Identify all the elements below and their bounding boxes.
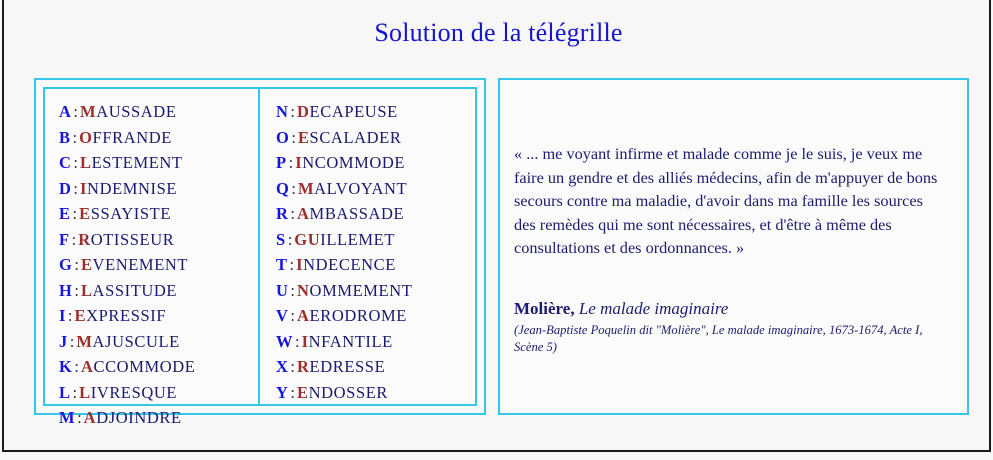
solution-separator: : bbox=[71, 128, 80, 147]
solution-word-tail: CCOMMODE bbox=[93, 357, 195, 376]
solution-key: G bbox=[59, 255, 72, 274]
solution-separator: : bbox=[286, 230, 295, 249]
solution-row: L:LIVRESQUE bbox=[59, 380, 258, 406]
solution-word-head: O bbox=[79, 128, 92, 147]
solution-word-head: R bbox=[78, 230, 91, 249]
solution-key: S bbox=[276, 230, 286, 249]
solution-row: K:ACCOMMODE bbox=[59, 354, 258, 380]
solution-row: A:MAUSSADE bbox=[59, 99, 258, 125]
solution-row: T:INDECENCE bbox=[276, 252, 475, 278]
solution-key: V bbox=[276, 306, 288, 325]
solution-separator: : bbox=[288, 281, 297, 300]
solution-word-head: E bbox=[79, 204, 91, 223]
solution-row: J:MAJUSCULE bbox=[59, 329, 258, 355]
solution-word-tail: AJUSCULE bbox=[93, 332, 180, 351]
solution-separator: : bbox=[70, 230, 79, 249]
solution-separator: : bbox=[288, 306, 297, 325]
solution-key: H bbox=[59, 281, 72, 300]
solution-row: R:AMBASSADE bbox=[276, 201, 475, 227]
solution-key: B bbox=[59, 128, 71, 147]
solution-word-tail: ILLEMET bbox=[320, 230, 395, 249]
solution-row: X:REDRESSE bbox=[276, 354, 475, 380]
solution-row: B:OFFRANDE bbox=[59, 125, 258, 151]
solution-key: X bbox=[276, 357, 288, 376]
solutions-column-2: N:DECAPEUSEO:ESCALADERP:INCOMMODEQ:MALVO… bbox=[260, 89, 475, 404]
solution-row: P:INCOMMODE bbox=[276, 150, 475, 176]
solution-key: D bbox=[59, 179, 71, 198]
solution-word-tail: IVRESQUE bbox=[91, 383, 177, 402]
solution-separator: : bbox=[66, 306, 75, 325]
solution-word-head: N bbox=[297, 281, 310, 300]
solution-key: I bbox=[59, 306, 66, 325]
solution-separator: : bbox=[288, 204, 297, 223]
solution-row: Q:MALVOYANT bbox=[276, 176, 475, 202]
solution-separator: : bbox=[288, 383, 297, 402]
solution-word-tail: ESTEMENT bbox=[92, 153, 183, 172]
solution-row: C:LESTEMENT bbox=[59, 150, 258, 176]
solution-word-head: E bbox=[297, 383, 309, 402]
solution-word-tail: ERODROME bbox=[310, 306, 407, 325]
page-title: Solution de la télégrille bbox=[4, 18, 993, 48]
solution-word-head: L bbox=[81, 281, 93, 300]
solution-row: G:EVENEMENT bbox=[59, 252, 258, 278]
solution-key: A bbox=[59, 102, 71, 121]
solutions-inner-frame: A:MAUSSADEB:OFFRANDEC:LESTEMENTD:INDEMNI… bbox=[43, 87, 477, 406]
solution-row: E:ESSAYISTE bbox=[59, 201, 258, 227]
solution-key: J bbox=[59, 332, 68, 351]
solution-separator: : bbox=[71, 102, 80, 121]
solution-word-tail: VENEMENT bbox=[93, 255, 189, 274]
solution-word-head: L bbox=[79, 383, 91, 402]
solution-key: N bbox=[276, 102, 288, 121]
solution-word-head: A bbox=[84, 408, 97, 427]
page-frame: Solution de la télégrille A:MAUSSADEB:OF… bbox=[2, 0, 991, 452]
attribution-work: Le malade imaginaire bbox=[579, 299, 729, 318]
solution-key: W bbox=[276, 332, 293, 351]
solution-word-tail: OMMEMENT bbox=[310, 281, 413, 300]
solution-word-head: M bbox=[80, 102, 96, 121]
solution-word-tail: FFRANDE bbox=[93, 128, 172, 147]
solution-word-head: GU bbox=[294, 230, 320, 249]
solution-separator: : bbox=[75, 408, 84, 427]
solution-separator: : bbox=[71, 179, 80, 198]
solution-word-tail: ECAPEUSE bbox=[310, 102, 398, 121]
solution-key: C bbox=[59, 153, 71, 172]
solution-key: F bbox=[59, 230, 70, 249]
solution-word-tail: EDRESSE bbox=[310, 357, 386, 376]
solution-word-tail: NDEMNISE bbox=[87, 179, 177, 198]
attribution-reference: (Jean-Baptiste Poquelin dit "Molière", L… bbox=[514, 322, 954, 356]
solution-row: S:GUILLEMET bbox=[276, 227, 475, 253]
solution-row: U:NOMMEMENT bbox=[276, 278, 475, 304]
solution-separator: : bbox=[71, 204, 80, 223]
solution-word-tail: XPRESSIF bbox=[86, 306, 166, 325]
solution-key: Y bbox=[276, 383, 288, 402]
solution-word-head: M bbox=[76, 332, 92, 351]
solutions-column-1: A:MAUSSADEB:OFFRANDEC:LESTEMENTD:INDEMNI… bbox=[45, 89, 260, 404]
solution-word-tail: AUSSADE bbox=[96, 102, 176, 121]
solution-separator: : bbox=[72, 255, 81, 274]
attribution-main: Molière, Le malade imaginaire bbox=[514, 298, 954, 320]
solutions-panel: A:MAUSSADEB:OFFRANDEC:LESTEMENTD:INDEMNI… bbox=[34, 78, 486, 415]
solution-row: D:INDEMNISE bbox=[59, 176, 258, 202]
attribution-author: Molière, bbox=[514, 299, 575, 318]
solution-row: Y:ENDOSSER bbox=[276, 380, 475, 406]
solution-key: T bbox=[276, 255, 288, 274]
solution-word-tail: ALVOYANT bbox=[314, 179, 407, 198]
solution-row: M:ADJOINDRE bbox=[59, 405, 258, 431]
solution-separator: : bbox=[288, 255, 297, 274]
solution-key: E bbox=[59, 204, 71, 223]
solution-key: P bbox=[276, 153, 287, 172]
solution-word-head: D bbox=[297, 102, 310, 121]
solution-word-head: E bbox=[75, 306, 87, 325]
solution-word-head: M bbox=[298, 179, 314, 198]
solution-word-head: E bbox=[298, 128, 310, 147]
solution-word-tail: NFANTILE bbox=[309, 332, 393, 351]
solution-word-tail: MBASSADE bbox=[310, 204, 405, 223]
solution-separator: : bbox=[288, 357, 297, 376]
solution-key: U bbox=[276, 281, 288, 300]
solution-separator: : bbox=[72, 357, 81, 376]
solution-separator: : bbox=[71, 153, 80, 172]
solution-word-tail: ASSITUDE bbox=[93, 281, 178, 300]
solution-row: H:LASSITUDE bbox=[59, 278, 258, 304]
solution-word-tail: SSAYISTE bbox=[91, 204, 171, 223]
solution-separator: : bbox=[72, 281, 81, 300]
solution-key: L bbox=[59, 383, 71, 402]
solution-word-tail: SCALADER bbox=[310, 128, 402, 147]
solution-row: I:EXPRESSIF bbox=[59, 303, 258, 329]
solution-key: O bbox=[276, 128, 289, 147]
solution-separator: : bbox=[289, 128, 298, 147]
solution-separator: : bbox=[71, 383, 80, 402]
solution-word-tail: NDECENCE bbox=[303, 255, 396, 274]
solution-word-tail: NDOSSER bbox=[309, 383, 388, 402]
solution-word-head: I bbox=[80, 179, 87, 198]
solution-row: W:INFANTILE bbox=[276, 329, 475, 355]
solution-row: O:ESCALADER bbox=[276, 125, 475, 151]
solution-key: R bbox=[276, 204, 288, 223]
quote-panel: « ... me voyant infirme et malade comme … bbox=[498, 78, 969, 415]
solution-word-tail: NCOMMODE bbox=[302, 153, 405, 172]
solution-separator: : bbox=[287, 153, 296, 172]
solution-word-head: R bbox=[297, 357, 310, 376]
solution-word-head: I bbox=[302, 332, 309, 351]
solution-separator: : bbox=[288, 102, 297, 121]
quote-attribution: Molière, Le malade imaginaire (Jean-Bapt… bbox=[514, 298, 954, 356]
solution-word-tail: DJOINDRE bbox=[96, 408, 181, 427]
solution-row: F:ROTISSEUR bbox=[59, 227, 258, 253]
solution-row: V:AERODROME bbox=[276, 303, 475, 329]
quote-text: « ... me voyant infirme et malade comme … bbox=[514, 142, 948, 260]
solution-key: K bbox=[59, 357, 72, 376]
solution-word-head: A bbox=[297, 306, 310, 325]
solution-word-head: E bbox=[81, 255, 93, 274]
solution-key: M bbox=[59, 408, 75, 427]
solution-word-head: L bbox=[80, 153, 92, 172]
solution-row: N:DECAPEUSE bbox=[276, 99, 475, 125]
solution-word-tail: OTISSEUR bbox=[91, 230, 175, 249]
solution-separator: : bbox=[293, 332, 302, 351]
solution-key: Q bbox=[276, 179, 289, 198]
solution-word-head: A bbox=[81, 357, 94, 376]
solution-separator: : bbox=[289, 179, 298, 198]
solution-word-head: A bbox=[297, 204, 310, 223]
